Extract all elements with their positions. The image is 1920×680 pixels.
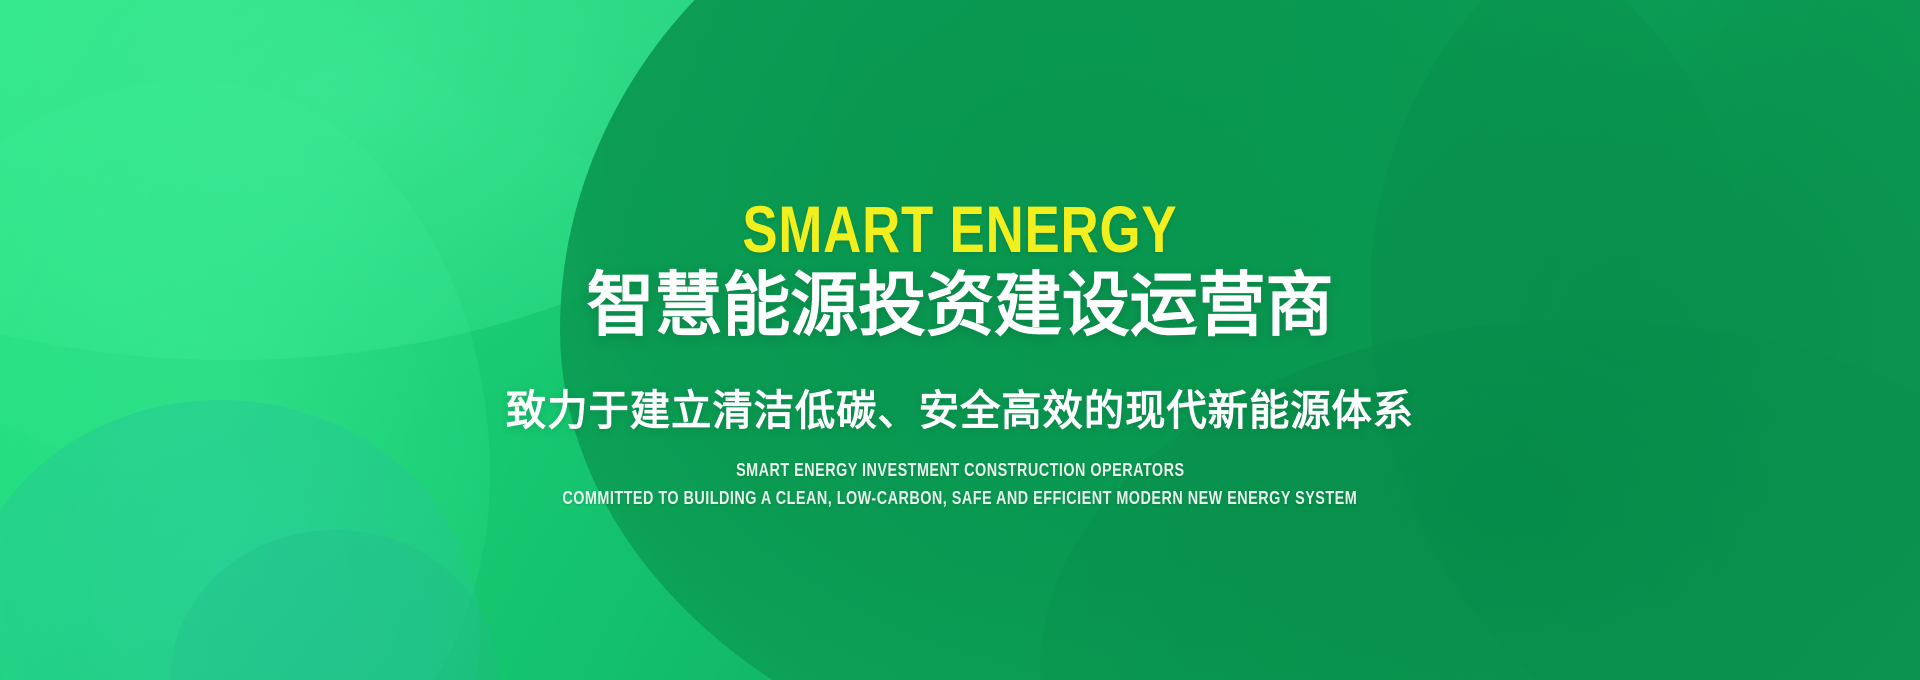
caption-group: SMART ENERGY INVESTMENT CONSTRUCTION OPE… bbox=[463, 459, 1457, 510]
headline-english: SMART ENERGY bbox=[743, 196, 1178, 262]
caption-line-1: SMART ENERGY INVESTMENT CONSTRUCTION OPE… bbox=[736, 459, 1185, 482]
subtitle-chinese: 致力于建立清洁低碳、安全高效的现代新能源体系 bbox=[506, 386, 1414, 436]
banner-content: SMART ENERGY 智慧能源投资建设运营商 致力于建立清洁低碳、安全高效的… bbox=[0, 0, 1920, 680]
hero-banner: SMART ENERGY 智慧能源投资建设运营商 致力于建立清洁低碳、安全高效的… bbox=[0, 0, 1920, 680]
caption-line-2: COMMITTED TO BUILDING A CLEAN, LOW-CARBO… bbox=[563, 487, 1358, 510]
headline-chinese: 智慧能源投资建设运营商 bbox=[587, 268, 1334, 342]
